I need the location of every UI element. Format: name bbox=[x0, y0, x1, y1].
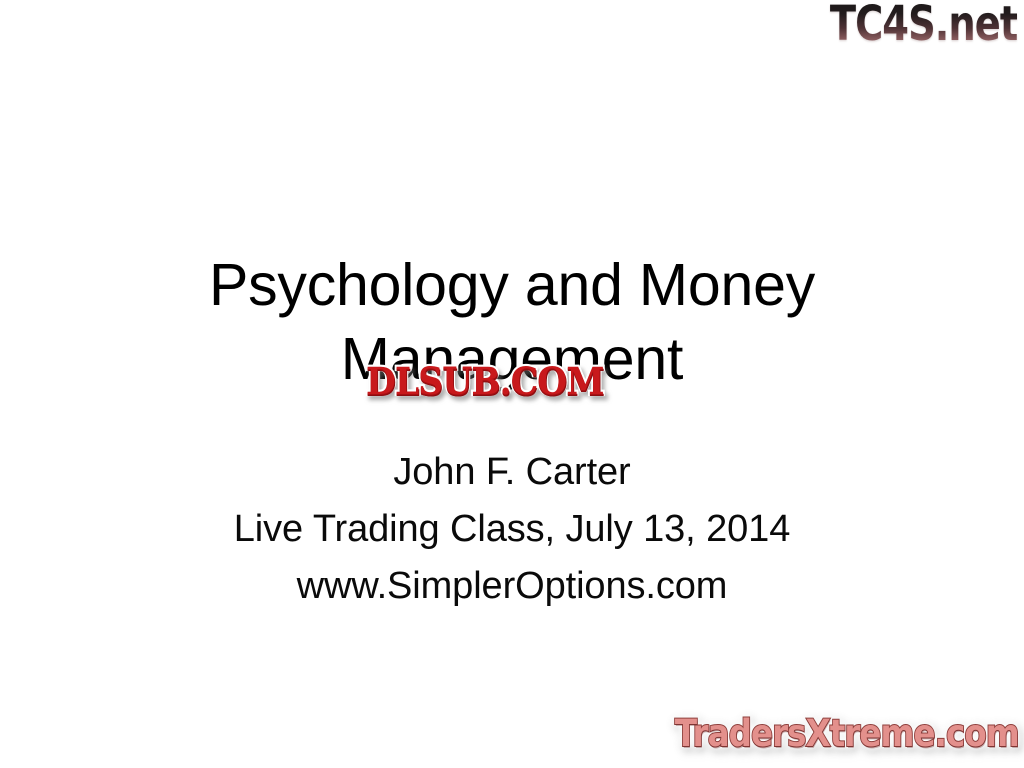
watermark-dlsub-com-text: DLSUB.COM bbox=[366, 361, 604, 402]
subtitle-line-website: www.SimplerOptions.com bbox=[202, 558, 822, 615]
watermark-dlsub-com: DLSUB.COM bbox=[366, 360, 642, 404]
subtitle-block: John F. Carter Live Trading Class, July … bbox=[202, 444, 822, 615]
presentation-slide: TC4S.net Psychology and Money Management… bbox=[0, 0, 1024, 768]
watermark-tc4s-net: TC4S.net bbox=[830, 0, 1017, 50]
subtitle-line-event: Live Trading Class, July 13, 2014 bbox=[202, 501, 822, 558]
watermark-tradersxtreme-com-text: TradersXtreme.com bbox=[675, 713, 1019, 754]
watermark-tradersxtreme-com: TradersXtreme.com bbox=[628, 713, 1019, 754]
subtitle-line-presenter: John F. Carter bbox=[202, 444, 822, 501]
